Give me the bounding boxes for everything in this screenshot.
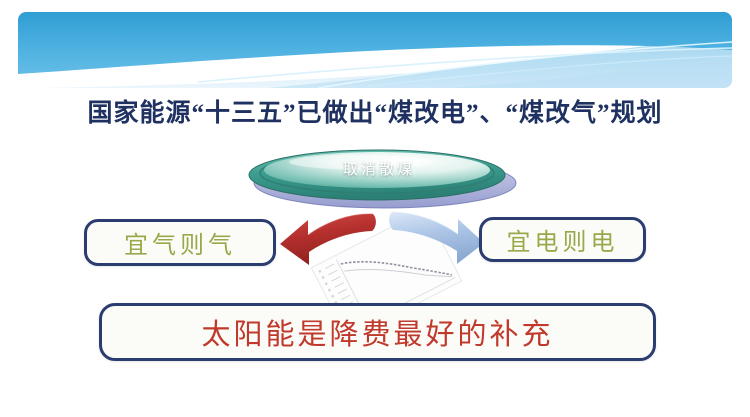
- slide-canvas: 国家能源“十三五”已做出“煤改电”、“煤改气”规划: [0, 0, 750, 417]
- label-box-bottom-text: 太阳能是降费最好的补充: [201, 311, 553, 353]
- arrow-right-blue-icon: [388, 206, 486, 268]
- label-box-right[interactable]: 宜电则电: [479, 217, 646, 262]
- center-oval-shape: 取消散煤: [243, 143, 523, 213]
- label-box-right-text: 宜电则电: [507, 222, 619, 257]
- label-box-left-text: 宜气则气: [124, 225, 236, 260]
- arrow-left-red-icon: [278, 210, 378, 272]
- label-box-bottom[interactable]: 太阳能是降费最好的补充: [99, 303, 656, 361]
- label-box-left[interactable]: 宜气则气: [84, 219, 276, 266]
- header-wave-banner: [18, 12, 732, 88]
- slide-title: 国家能源“十三五”已做出“煤改电”、“煤改气”规划: [0, 93, 750, 129]
